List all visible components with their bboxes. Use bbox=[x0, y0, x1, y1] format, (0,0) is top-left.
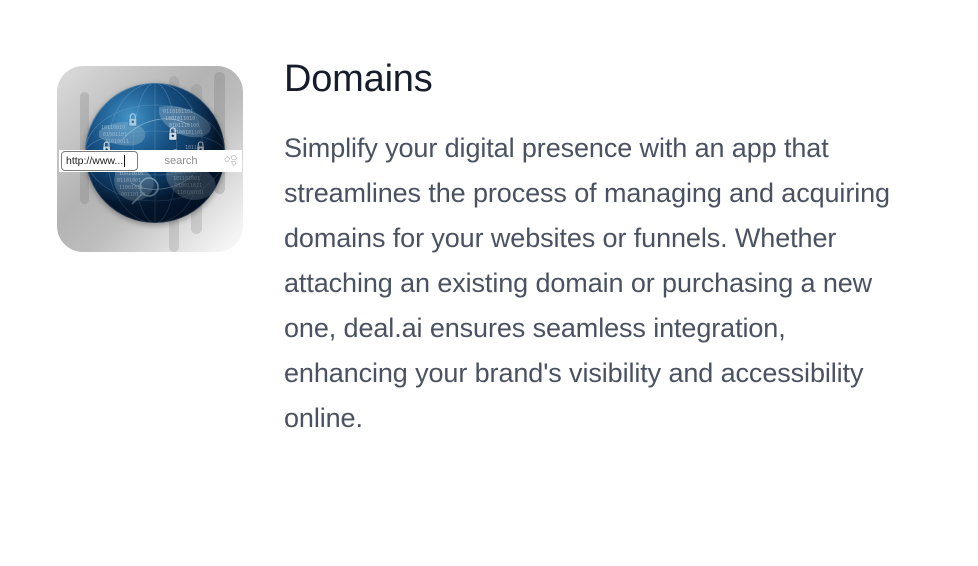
feature-description: Simplify your digital presence with an a… bbox=[284, 126, 909, 441]
text-column: Domains Simplify your digital presence w… bbox=[284, 55, 914, 441]
url-input[interactable]: http://www... bbox=[61, 151, 138, 171]
browser-search-strip: http://www... search bbox=[59, 150, 242, 172]
page-title: Domains bbox=[284, 55, 914, 103]
icon-column: 10110010 01001101 11010011 0110101101 10… bbox=[57, 66, 243, 252]
url-input-value: http://www... bbox=[66, 155, 123, 167]
text-caret bbox=[124, 155, 125, 167]
world-map-icon bbox=[224, 154, 239, 167]
domains-app-icon[interactable]: 10110010 01001101 11010011 0110101101 10… bbox=[57, 66, 243, 252]
feature-card: 10110010 01001101 11010011 0110101101 10… bbox=[0, 0, 978, 566]
